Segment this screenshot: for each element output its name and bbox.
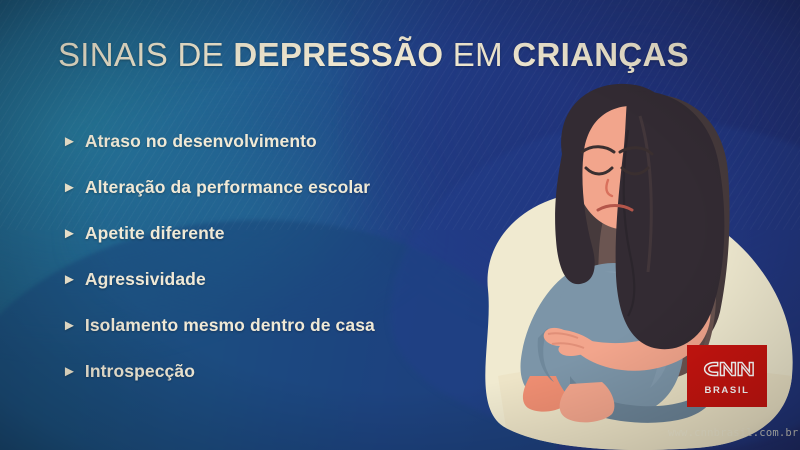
cnn-brasil-logo: BRASIL xyxy=(687,345,767,407)
title-part-sinais-de: SINAIS DE xyxy=(58,36,224,73)
list-item-label: Agressividade xyxy=(85,269,206,290)
list-item: ► Agressividade xyxy=(62,256,492,302)
list-item: ► Isolamento mesmo dentro de casa xyxy=(62,302,492,348)
triangle-bullet-icon: ► xyxy=(62,134,77,149)
cnn-logo-mark xyxy=(699,356,755,382)
symptom-list: ► Atraso no desenvolvimento ► Alteração … xyxy=(62,118,492,394)
title-part-criancas: CRIANÇAS xyxy=(512,36,689,73)
list-item: ► Apetite diferente xyxy=(62,210,492,256)
title-part-em: EM xyxy=(453,36,503,73)
list-item: ► Atraso no desenvolvimento xyxy=(62,118,492,164)
triangle-bullet-icon: ► xyxy=(62,180,77,195)
list-item-label: Introspecção xyxy=(85,361,195,382)
list-item-label: Isolamento mesmo dentro de casa xyxy=(85,315,375,336)
near-foot xyxy=(560,382,615,422)
triangle-bullet-icon: ► xyxy=(62,318,77,333)
title-part-depressao: DEPRESSÃO xyxy=(233,36,443,73)
infographic-canvas: SINAIS DE DEPRESSÃO EM CRIANÇAS ► Atraso… xyxy=(0,0,800,450)
list-item: ► Alteração da performance escolar xyxy=(62,164,492,210)
list-item-label: Alteração da performance escolar xyxy=(85,177,370,198)
logo-subtitle: BRASIL xyxy=(705,385,750,396)
watermark-url: www.cnnbrasil.com.br xyxy=(668,427,798,439)
list-item-label: Apetite diferente xyxy=(85,223,225,244)
triangle-bullet-icon: ► xyxy=(62,226,77,241)
triangle-bullet-icon: ► xyxy=(62,364,77,379)
triangle-bullet-icon: ► xyxy=(62,272,77,287)
list-item: ► Introspecção xyxy=(62,348,492,394)
page-title: SINAIS DE DEPRESSÃO EM CRIANÇAS xyxy=(58,36,748,74)
list-item-label: Atraso no desenvolvimento xyxy=(85,131,317,152)
